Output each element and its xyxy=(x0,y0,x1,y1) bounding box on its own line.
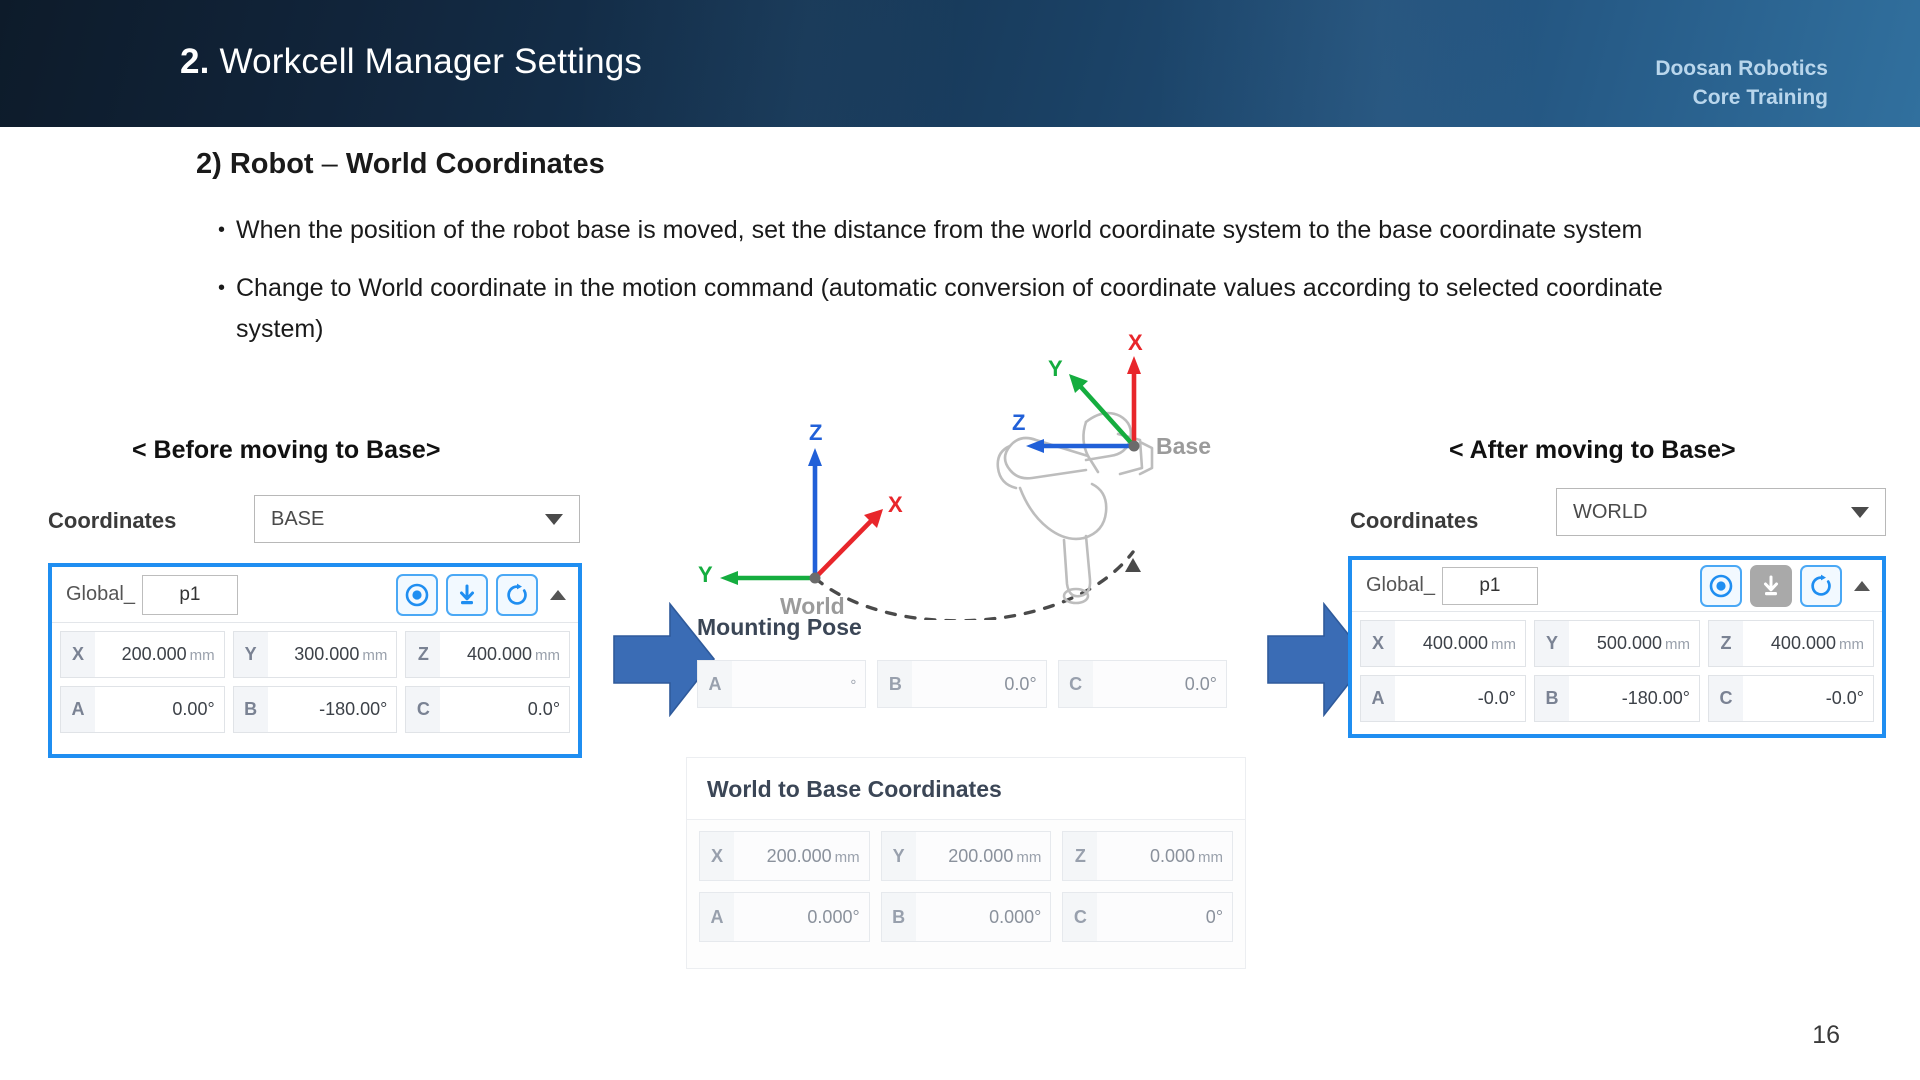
collapse-caret-icon[interactable] xyxy=(550,590,566,600)
brand-line-2: Core Training xyxy=(1655,83,1828,112)
before-field-y-key: Y xyxy=(234,632,268,677)
mounting-pose-title: Mounting Pose xyxy=(697,614,862,641)
before-global-label: Global_ xyxy=(66,583,135,606)
bullet-item: When the position of the robot base is m… xyxy=(218,210,1718,251)
after-field-b-value: -180.00° xyxy=(1569,688,1699,709)
svg-text:Base: Base xyxy=(1156,433,1211,459)
wtb-field-b-value: 0.000° xyxy=(916,907,1051,928)
wtb-field-y-key: Y xyxy=(882,832,916,880)
before-field-z-key: Z xyxy=(406,632,440,677)
after-caption: < After moving to Base> xyxy=(1449,436,1736,465)
chevron-down-icon xyxy=(545,514,563,525)
mounting-field-c-value: 0.0° xyxy=(1093,674,1226,695)
after-global-label: Global_ xyxy=(1366,574,1435,597)
wtb-field-c[interactable]: C 0° xyxy=(1062,892,1233,942)
wtb-field-a[interactable]: A 0.000° xyxy=(699,892,870,942)
world-to-base-row-abc: A 0.000° B 0.000° C 0° xyxy=(699,892,1233,942)
before-field-b-value: -180.00° xyxy=(268,699,397,720)
wtb-field-c-key: C xyxy=(1063,893,1097,941)
before-coordinates-label: Coordinates xyxy=(48,508,176,534)
after-field-y-key: Y xyxy=(1535,621,1569,666)
before-field-z-value: 400.000mm xyxy=(440,644,569,665)
after-field-x-value: 400.000mm xyxy=(1395,633,1525,654)
before-field-x-key: X xyxy=(61,632,95,677)
wtb-field-y-value: 200.000mm xyxy=(916,846,1051,867)
before-pose-name-input[interactable]: p1 xyxy=(142,575,238,615)
base-frame: X Y Z Base xyxy=(1012,330,1211,459)
after-field-a[interactable]: A -0.0° xyxy=(1360,675,1526,722)
wtb-field-z[interactable]: Z 0.000mm xyxy=(1062,831,1233,881)
reset-refresh-icon[interactable] xyxy=(496,574,538,616)
target-icon[interactable] xyxy=(396,574,438,616)
world-frame: Z Y X World xyxy=(698,420,903,619)
after-field-x[interactable]: X 400.000mm xyxy=(1360,620,1526,667)
mounting-field-b[interactable]: B 0.0° xyxy=(877,660,1046,708)
before-field-a-key: A xyxy=(61,687,95,732)
world-to-base-card: World to Base Coordinates X 200.000mm Y … xyxy=(686,757,1246,969)
wtb-field-z-key: Z xyxy=(1063,832,1097,880)
svg-text:X: X xyxy=(1128,330,1143,355)
save-download-icon xyxy=(1750,565,1792,607)
wtb-field-y[interactable]: Y 200.000mm xyxy=(881,831,1052,881)
wtb-field-x-value: 200.000mm xyxy=(734,846,869,867)
before-field-x-value: 200.000mm xyxy=(95,644,224,665)
svg-text:Y: Y xyxy=(1048,356,1063,381)
before-pose-grid: X 200.000mm Y 300.000mm Z 400.000mm A 0.… xyxy=(52,623,578,743)
before-field-a-value: 0.00° xyxy=(95,699,224,720)
mounting-field-a-key: A xyxy=(698,661,732,707)
wtb-field-z-value: 0.000mm xyxy=(1097,846,1232,867)
collapse-caret-icon[interactable] xyxy=(1854,581,1870,591)
before-field-y[interactable]: Y 300.000mm xyxy=(233,631,398,678)
after-field-a-key: A xyxy=(1361,676,1395,721)
after-field-c-key: C xyxy=(1709,676,1743,721)
before-coordinates-value: BASE xyxy=(271,508,545,531)
mounting-pose-row: A ° B 0.0° C 0.0° xyxy=(697,660,1227,708)
after-field-z-value: 400.000mm xyxy=(1743,633,1873,654)
svg-text:Z: Z xyxy=(1012,410,1025,435)
after-pose-panel: Global_ p1 X xyxy=(1348,556,1886,738)
before-caption: < Before moving to Base> xyxy=(132,436,440,465)
wtb-field-c-value: 0° xyxy=(1097,907,1232,928)
before-field-b[interactable]: B -180.00° xyxy=(233,686,398,733)
before-field-z[interactable]: Z 400.000mm xyxy=(405,631,570,678)
after-field-b-key: B xyxy=(1535,676,1569,721)
after-field-y-value: 500.000mm xyxy=(1569,633,1699,654)
after-field-c-value: -0.0° xyxy=(1743,688,1873,709)
after-field-z[interactable]: Z 400.000mm xyxy=(1708,620,1874,667)
mounting-field-a-value: ° xyxy=(732,674,865,695)
before-field-x[interactable]: X 200.000mm xyxy=(60,631,225,678)
before-field-c-value: 0.0° xyxy=(440,699,569,720)
svg-text:Z: Z xyxy=(809,420,822,445)
target-icon[interactable] xyxy=(1700,565,1742,607)
before-pose-row-xyz: X 200.000mm Y 300.000mm Z 400.000mm xyxy=(60,631,570,678)
after-field-y[interactable]: Y 500.000mm xyxy=(1534,620,1700,667)
before-field-y-value: 300.000mm xyxy=(268,644,397,665)
after-coordinates-label: Coordinates xyxy=(1350,508,1478,534)
before-field-c[interactable]: C 0.0° xyxy=(405,686,570,733)
mounting-field-c-key: C xyxy=(1059,661,1093,707)
slide-subtitle: 2) Robot – World Coordinates xyxy=(196,148,605,181)
page-number: 16 xyxy=(1812,1021,1840,1050)
after-pose-header: Global_ p1 xyxy=(1352,560,1882,612)
after-field-z-key: Z xyxy=(1709,621,1743,666)
world-to-base-title: World to Base Coordinates xyxy=(687,758,1245,820)
svg-text:X: X xyxy=(888,492,903,517)
wtb-field-b-key: B xyxy=(882,893,916,941)
after-field-x-key: X xyxy=(1361,621,1395,666)
after-coordinates-select[interactable]: WORLD xyxy=(1556,488,1886,536)
before-pose-row-abc: A 0.00° B -180.00° C 0.0° xyxy=(60,686,570,733)
wtb-field-x[interactable]: X 200.000mm xyxy=(699,831,870,881)
reset-refresh-icon[interactable] xyxy=(1800,565,1842,607)
wtb-field-x-key: X xyxy=(700,832,734,880)
chevron-down-icon xyxy=(1851,507,1869,518)
wtb-field-a-key: A xyxy=(700,893,734,941)
after-field-c[interactable]: C -0.0° xyxy=(1708,675,1874,722)
after-pose-name-input[interactable]: p1 xyxy=(1442,567,1538,605)
page-title-number: 2. xyxy=(180,42,210,81)
page-title: 2. Workcell Manager Settings xyxy=(180,42,642,82)
page-title-text: Workcell Manager Settings xyxy=(220,42,643,81)
world-to-base-row-xyz: X 200.000mm Y 200.000mm Z 0.000mm xyxy=(699,831,1233,881)
before-pose-header: Global_ p1 xyxy=(52,567,578,623)
wtb-field-a-value: 0.000° xyxy=(734,907,869,928)
svg-text:Y: Y xyxy=(698,562,713,587)
after-coordinates-value: WORLD xyxy=(1573,501,1851,524)
subtitle-prefix: 2) Robot xyxy=(196,148,314,180)
before-pose-panel: Global_ p1 X xyxy=(48,563,582,758)
before-coordinates-select[interactable]: BASE xyxy=(254,495,580,543)
wtb-field-b[interactable]: B 0.000° xyxy=(881,892,1052,942)
before-field-a[interactable]: A 0.00° xyxy=(60,686,225,733)
coordinate-system-diagram: Z Y X World X Y Z Base xyxy=(690,330,1260,620)
after-pose-grid: X 400.000mm Y 500.000mm Z 400.000mm A -0… xyxy=(1352,612,1882,732)
brand-line-1: Doosan Robotics xyxy=(1655,54,1828,83)
subtitle-dash: – xyxy=(322,148,338,180)
world-to-base-body: X 200.000mm Y 200.000mm Z 0.000mm A 0.00… xyxy=(687,820,1245,956)
after-pose-row-xyz: X 400.000mm Y 500.000mm Z 400.000mm xyxy=(1360,620,1874,667)
after-pose-row-abc: A -0.0° B -180.00° C -0.0° xyxy=(1360,675,1874,722)
after-field-b[interactable]: B -180.00° xyxy=(1534,675,1700,722)
after-field-a-value: -0.0° xyxy=(1395,688,1525,709)
slide-header: 2. Workcell Manager Settings Doosan Robo… xyxy=(0,0,1920,127)
save-download-icon[interactable] xyxy=(446,574,488,616)
mounting-field-c[interactable]: C 0.0° xyxy=(1058,660,1227,708)
mounting-field-a[interactable]: A ° xyxy=(697,660,866,708)
before-field-c-key: C xyxy=(406,687,440,732)
subtitle-suffix: World Coordinates xyxy=(346,148,605,180)
before-field-b-key: B xyxy=(234,687,268,732)
mounting-field-b-key: B xyxy=(878,661,912,707)
mounting-field-b-value: 0.0° xyxy=(912,674,1045,695)
brand-block: Doosan Robotics Core Training xyxy=(1655,54,1828,112)
